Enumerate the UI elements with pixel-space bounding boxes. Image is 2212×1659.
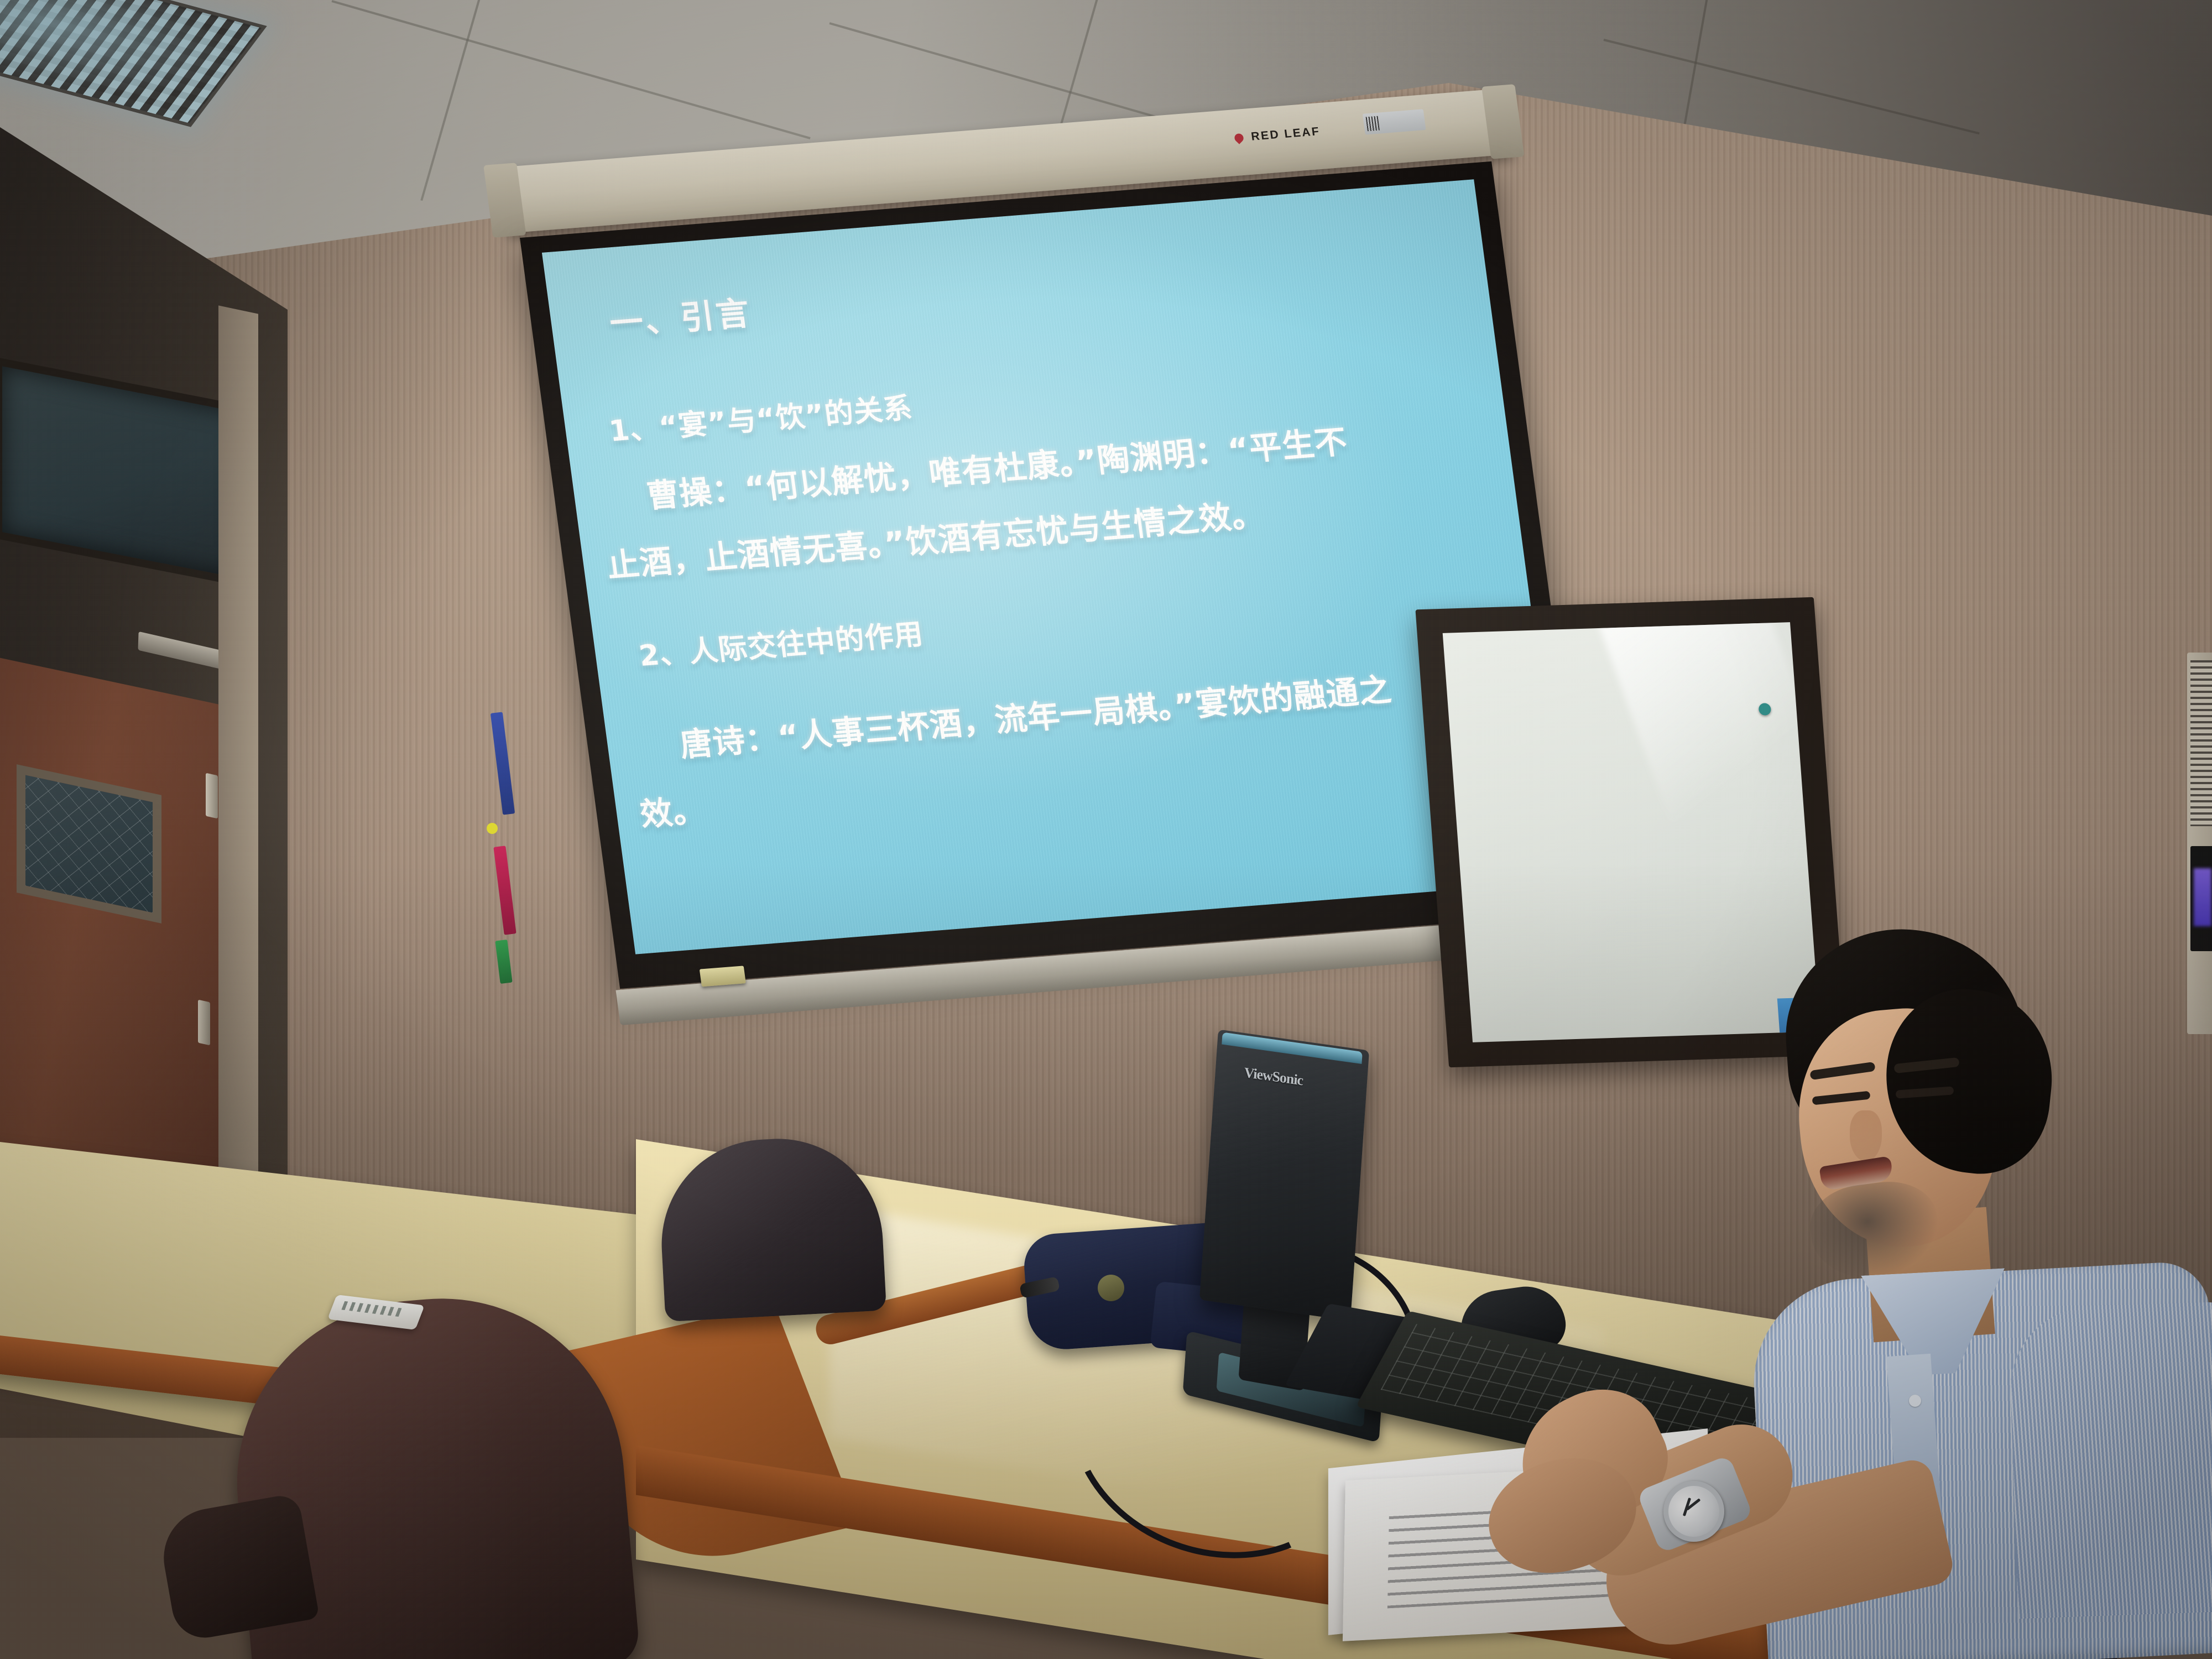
- door-hinge-upper: [206, 773, 218, 819]
- wired-glass-mesh: [25, 775, 153, 913]
- whiteboard-eraser: [700, 966, 746, 987]
- shoulder: [2007, 1301, 2212, 1619]
- entry-door[interactable]: [0, 655, 221, 1230]
- magnet-yellow: [487, 823, 498, 834]
- whiteboard-glare: [1586, 622, 1820, 864]
- seated-person: [1703, 918, 2212, 1659]
- door-hinge-lower: [198, 1000, 210, 1046]
- screen-canvas: 一、引言 1、“宴”与“饮”的关系 曹操：“何以解忧，唯有杜康。”陶渊明：“平生…: [542, 179, 1568, 954]
- screen-border: 一、引言 1、“宴”与“饮”的关系 曹操：“何以解忧，唯有杜康。”陶渊明：“平生…: [520, 161, 1592, 989]
- barcode-sticker: [1363, 109, 1426, 134]
- red-leaf-logo-icon: [1233, 132, 1245, 144]
- umbrella-button: [1098, 1275, 1124, 1301]
- slide-content: 一、引言 1、“宴”与“饮”的关系 曹操：“何以解忧，唯有杜康。”陶渊明：“平生…: [542, 179, 1568, 954]
- vent-grille: [2190, 660, 2212, 826]
- slide-line-5: 唐诗：“人事三杯酒，流年一局棋。”宴饮的融通之: [677, 664, 1394, 765]
- computer-monitor[interactable]: ViewSonic: [1199, 1029, 1369, 1321]
- monitor-brand-label: ViewSonic: [1244, 1065, 1303, 1089]
- slide-line-6: 效。: [637, 784, 708, 836]
- shirt-button-1: [1909, 1395, 1921, 1407]
- chair-armrest: [156, 1493, 320, 1643]
- conference-room-photo: RED LEAF 一、引言 1、“宴”与“饮”的关系 曹操：“何以解忧，唯有杜康…: [0, 0, 2212, 1659]
- slide-title: 一、引言: [607, 286, 754, 345]
- door-jamb: [218, 305, 258, 1209]
- screen-brand-label: RED LEAF: [1250, 125, 1321, 144]
- slide-line-4: 2、人际交往中的作用: [636, 611, 925, 674]
- nose: [1850, 1110, 1882, 1161]
- slide-line-1: 1、“宴”与“饮”的关系: [606, 384, 915, 449]
